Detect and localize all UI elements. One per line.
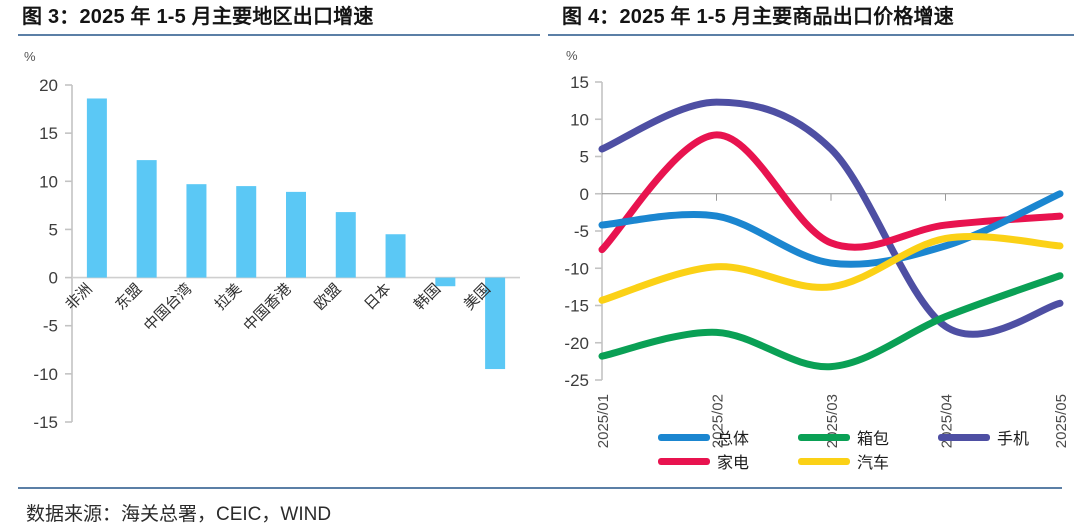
figure3-y-tick-label: -15 <box>33 413 58 432</box>
figure3-category-label: 非洲 <box>62 280 95 313</box>
legend-row: 总体箱包手机 <box>658 425 1078 449</box>
legend-label: 总体 <box>717 425 749 449</box>
legend-item-汽车[interactable]: 汽车 <box>798 449 938 473</box>
figure4-series-line <box>602 194 1060 265</box>
legend-label: 手机 <box>997 425 1029 449</box>
figure4-title: 图 4：2025 年 1-5 月主要商品出口价格增速 <box>562 2 1080 32</box>
figure3-category-label: 欧盟 <box>311 280 344 313</box>
figure4-title-cell: 图 4：2025 年 1-5 月主要商品出口价格增速 <box>540 0 1080 40</box>
figure3-title: 图 3：2025 年 1-5 月主要地区出口增速 <box>22 2 540 32</box>
svg-text:东盟: 东盟 <box>112 280 145 313</box>
svg-text:欧盟: 欧盟 <box>311 280 344 313</box>
figure4-y-tick-label: 10 <box>570 110 589 129</box>
figure4-y-tick-label: -10 <box>564 259 589 278</box>
figure4-line-chart: % 151050-5-10-15-20-252025/012025/022025… <box>540 40 1080 487</box>
legend-label: 汽车 <box>857 449 889 473</box>
title-row: 图 3：2025 年 1-5 月主要地区出口增速 图 4：2025 年 1-5 … <box>0 0 1080 40</box>
figure3-category-label: 拉美 <box>212 280 245 313</box>
figure3-title-cell: 图 3：2025 年 1-5 月主要地区出口增速 <box>0 0 540 40</box>
figure4-y-tick-label: -5 <box>574 222 589 241</box>
svg-text:2025/01: 2025/01 <box>595 394 612 448</box>
figure3-bar <box>336 212 356 277</box>
svg-text:中国台湾: 中国台湾 <box>141 280 195 334</box>
legend-item-箱包[interactable]: 箱包 <box>798 425 938 449</box>
figure4-y-tick-label: 0 <box>580 185 589 204</box>
figure3-y-tick-label: -5 <box>43 317 58 336</box>
figure3-bar <box>236 186 256 277</box>
figure3-title-rule <box>18 34 540 36</box>
svg-text:中国香港: 中国香港 <box>240 280 294 334</box>
figure-page: 图 3：2025 年 1-5 月主要地区出口增速 图 4：2025 年 1-5 … <box>0 0 1080 531</box>
figure3-bar <box>435 278 455 287</box>
figure3-y-tick-label: 10 <box>39 172 58 191</box>
svg-text:日本: 日本 <box>361 280 394 313</box>
legend-swatch-icon <box>938 434 990 441</box>
figure4-legend: 总体箱包手机家电汽车 <box>658 425 1078 473</box>
figure4-y-tick-label: -15 <box>564 297 589 316</box>
data-source-text: 数据来源：海关总署，CEIC，WIND <box>26 499 331 526</box>
figure3-y-tick-label: 5 <box>49 220 58 239</box>
footer: 数据来源：海关总署，CEIC，WIND <box>0 487 1080 531</box>
legend-item-家电[interactable]: 家电 <box>658 449 798 473</box>
legend-row: 家电汽车 <box>658 449 1078 473</box>
figure3-y-tick-label: 20 <box>39 76 58 95</box>
figure3-y-tick-label: 0 <box>49 269 58 288</box>
legend-swatch-icon <box>658 458 710 465</box>
figure4-y-tick-label: 15 <box>570 73 589 92</box>
figure3-unit-label: % <box>24 49 36 64</box>
svg-text:非洲: 非洲 <box>62 280 95 313</box>
charts-area: % 20151050-5-10-15非洲东盟中国台湾拉美中国香港欧盟日本韩国美国… <box>0 40 1080 487</box>
figure3-y-tick-label: 15 <box>39 124 58 143</box>
svg-text:拉美: 拉美 <box>212 280 245 313</box>
legend-item-总体[interactable]: 总体 <box>658 425 798 449</box>
figure4-title-rule <box>548 34 1074 36</box>
legend-label: 箱包 <box>857 425 889 449</box>
footer-rule <box>18 487 1062 489</box>
figure3-bar <box>137 160 157 277</box>
legend-swatch-icon <box>658 434 710 441</box>
legend-swatch-icon <box>798 458 850 465</box>
figure3-y-tick-label: -10 <box>33 365 58 384</box>
figure3-plot-svg: 20151050-5-10-15非洲东盟中国台湾拉美中国香港欧盟日本韩国美国 <box>0 40 540 487</box>
figure3-category-label: 东盟 <box>112 280 145 313</box>
figure4-y-tick-label: -25 <box>564 371 589 390</box>
figure4-plot-svg: 151050-5-10-15-20-252025/012025/022025/0… <box>540 40 1080 487</box>
figure4-y-tick-label: -20 <box>564 334 589 353</box>
figure3-category-label: 日本 <box>361 280 394 313</box>
figure3-bar <box>286 192 306 278</box>
legend-item-手机[interactable]: 手机 <box>938 425 1078 449</box>
figure3-bar <box>87 98 107 277</box>
figure3-category-label: 中国香港 <box>240 280 294 334</box>
legend-swatch-icon <box>798 434 850 441</box>
figure3-bar-chart: % 20151050-5-10-15非洲东盟中国台湾拉美中国香港欧盟日本韩国美国 <box>0 40 540 487</box>
figure3-bar <box>186 184 206 277</box>
figure4-x-label: 2025/01 <box>595 394 612 448</box>
figure3-bar <box>386 234 406 277</box>
figure4-y-tick-label: 5 <box>580 148 589 167</box>
figure4-unit-label: % <box>566 48 578 63</box>
legend-label: 家电 <box>717 449 749 473</box>
figure3-category-label: 中国台湾 <box>141 280 195 334</box>
